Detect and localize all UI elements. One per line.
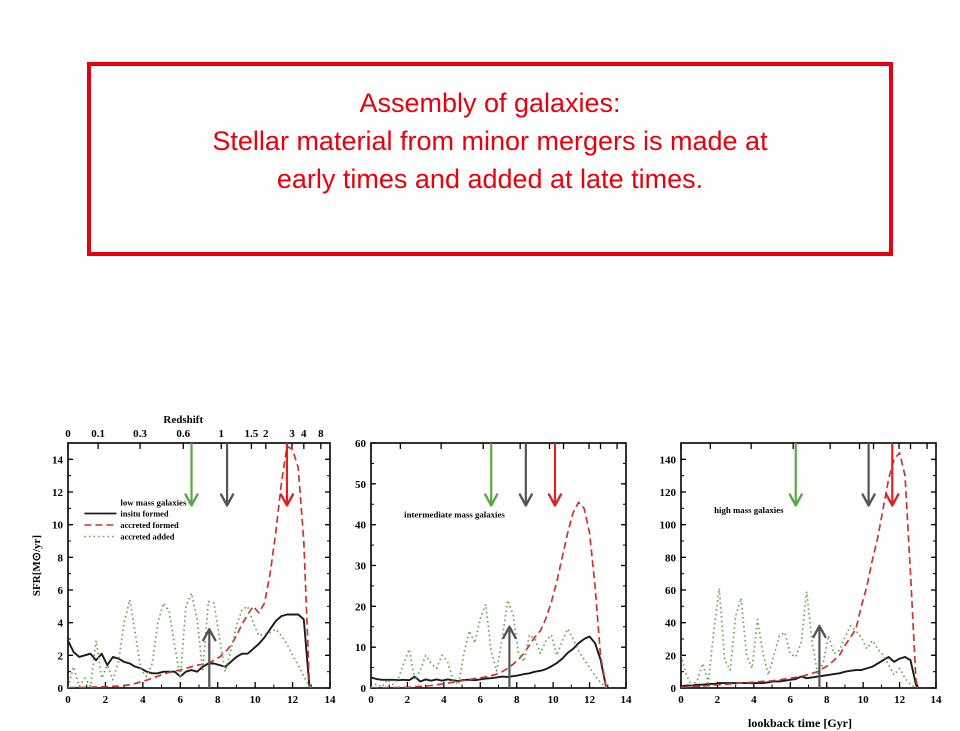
- redshift-tick-label: 0: [65, 428, 71, 440]
- panel-title: intermediate mass galaxies: [404, 510, 505, 520]
- x-tick-label: 10: [548, 694, 560, 706]
- x-tick-label: 14: [931, 694, 943, 706]
- chart-svg: 010203040506002468101214intermediate mas…: [345, 408, 640, 720]
- y-tick-label: 10: [52, 520, 64, 532]
- x-tick-label: 2: [103, 694, 109, 706]
- redshift-tick-label: 3: [289, 428, 295, 440]
- redshift-tick-label: 0.6: [176, 428, 190, 440]
- redshift-tick-label: 4: [301, 428, 307, 440]
- y-axis-title: SFR[M⊙/yr]: [31, 535, 43, 596]
- y-tick-label: 10: [355, 642, 367, 654]
- y-tick-label: 0: [671, 683, 677, 695]
- x-tick-label: 8: [824, 694, 830, 706]
- y-tick-label: 0: [58, 683, 64, 695]
- y-tick-label: 100: [660, 520, 677, 532]
- y-tick-label: 60: [355, 438, 367, 450]
- x-tick-label: 6: [178, 694, 184, 706]
- x-tick-label: 6: [478, 694, 484, 706]
- y-tick-label: 20: [355, 601, 367, 613]
- redshift-tick-label: 8: [318, 428, 324, 440]
- y-tick-label: 80: [665, 552, 677, 564]
- title-callout-box: Assembly of galaxies: Stellar material f…: [87, 62, 893, 256]
- redshift-tick-label: 0.1: [91, 428, 105, 440]
- x-tick-label: 14: [621, 694, 633, 706]
- y-tick-label: 30: [355, 561, 367, 573]
- title-line-2: Stellar material from minor mergers is m…: [212, 122, 767, 160]
- y-tick-label: 120: [660, 487, 677, 499]
- redshift-tick-label: 0.3: [133, 428, 147, 440]
- x-tick-label: 4: [441, 694, 447, 706]
- x-tick-label: 14: [325, 694, 337, 706]
- chart-panel-high-mass: 02040608010012014002468101214high mass g…: [645, 408, 950, 720]
- panel-title: low mass galaxies: [120, 497, 187, 507]
- title-line-1: Assembly of galaxies:: [359, 84, 620, 122]
- title-line-3: early times and added at late times.: [277, 160, 703, 198]
- x-tick-label: 6: [788, 694, 794, 706]
- y-tick-label: 12: [52, 487, 64, 499]
- redshift-tick-label: 2: [263, 428, 269, 440]
- x-tick-label: 4: [751, 694, 757, 706]
- chart-svg: 02040608010012014002468101214high mass g…: [645, 408, 950, 720]
- x-axis-title: lookback time [Gyr]: [685, 716, 915, 731]
- chart-svg: 024681012140246810121400.10.30.611.52348…: [28, 408, 340, 720]
- y-tick-label: 40: [665, 618, 677, 630]
- chart-panel-intermediate-mass: 010203040506002468101214intermediate mas…: [345, 408, 640, 720]
- sfr-figure: 024681012140246810121400.10.30.611.52348…: [0, 408, 960, 720]
- x-tick-label: 0: [65, 694, 71, 706]
- x-tick-label: 8: [215, 694, 221, 706]
- y-tick-label: 4: [58, 618, 64, 630]
- y-tick-label: 50: [355, 479, 367, 491]
- y-tick-label: 6: [58, 585, 64, 597]
- y-tick-label: 60: [665, 585, 677, 597]
- x-tick-label: 12: [287, 694, 299, 706]
- x-tick-label: 0: [368, 694, 374, 706]
- redshift-tick-label: 1.5: [245, 428, 259, 440]
- x-tick-label: 12: [584, 694, 596, 706]
- x-tick-label: 2: [715, 694, 721, 706]
- x-tick-label: 4: [140, 694, 146, 706]
- y-tick-label: 0: [361, 683, 367, 695]
- x-tick-label: 8: [514, 694, 520, 706]
- plot-frame: [681, 443, 936, 688]
- x-tick-label: 10: [250, 694, 262, 706]
- y-tick-label: 8: [58, 552, 64, 564]
- plot-frame: [68, 443, 330, 688]
- y-tick-label: 20: [665, 650, 677, 662]
- x-tick-label: 2: [405, 694, 411, 706]
- legend-label-accreted-formed: accreted formed: [120, 521, 179, 530]
- y-tick-label: 2: [58, 650, 64, 662]
- y-tick-label: 140: [660, 454, 677, 466]
- legend-label-accreted-added: accreted added: [120, 533, 174, 542]
- redshift-axis-title: Redshift: [163, 414, 203, 426]
- x-tick-label: 10: [858, 694, 870, 706]
- legend-label-insitu-formed: insitu formed: [120, 510, 168, 519]
- chart-panel-low-mass: 024681012140246810121400.10.30.611.52348…: [28, 408, 340, 720]
- x-tick-label: 12: [894, 694, 906, 706]
- x-tick-label: 0: [678, 694, 684, 706]
- y-tick-label: 14: [52, 454, 64, 466]
- redshift-tick-label: 1: [219, 428, 225, 440]
- panel-title: high mass galaxies: [714, 505, 784, 515]
- y-tick-label: 40: [355, 520, 367, 532]
